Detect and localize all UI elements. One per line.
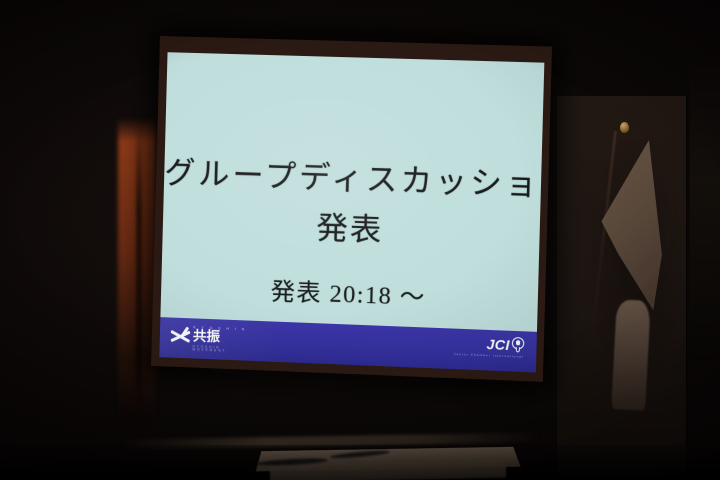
kyoshin-x-mark-icon (171, 329, 190, 345)
projection-screen: グループディスカッション 発表 発表 20:18 〜 K Y O S H I N… (151, 36, 552, 382)
wall-panel-right (556, 96, 686, 480)
photo-scene: グループディスカッション 発表 発表 20:18 〜 K Y O S H I N… (0, 0, 720, 480)
wall-accent-seam (136, 120, 142, 416)
wall-seam-left (556, 96, 557, 480)
slide-title-line1: グループディスカッション (164, 147, 542, 205)
kyoshin-logo-mark-row: 共振 (171, 329, 258, 347)
slide-content: グループディスカッション 発表 発表 20:18 〜 (160, 52, 544, 332)
jci-pin-icon (512, 337, 525, 353)
kyoshin-logo-kanji: 共振 (193, 330, 220, 345)
wall-strip-far-right (690, 60, 720, 360)
slide-surface: グループディスカッション 発表 発表 20:18 〜 K Y O S H I N… (159, 52, 544, 372)
jci-logo-tagline: Junior Chamber International (454, 352, 524, 359)
kyoshin-logo: K Y O S H I N 共振 KYOSHIN MOVEMENT (170, 322, 257, 359)
jci-logo: JCI Junior Chamber International (454, 335, 525, 366)
kyoshin-logo-tagline: KYOSHIN MOVEMENT (170, 345, 256, 355)
slide-title-line2: 発表 (162, 197, 540, 255)
flag-finial-icon (620, 122, 629, 133)
kyoshin-logo-romaji: K Y O S H I N (171, 325, 257, 332)
flag-lower-fold (611, 299, 651, 411)
slide-subtitle-time: 発表 20:18 〜 (161, 267, 539, 316)
jci-logo-row: JCI (486, 336, 524, 353)
jci-wordmark: JCI (486, 336, 510, 351)
wall-seam-right (686, 96, 687, 480)
